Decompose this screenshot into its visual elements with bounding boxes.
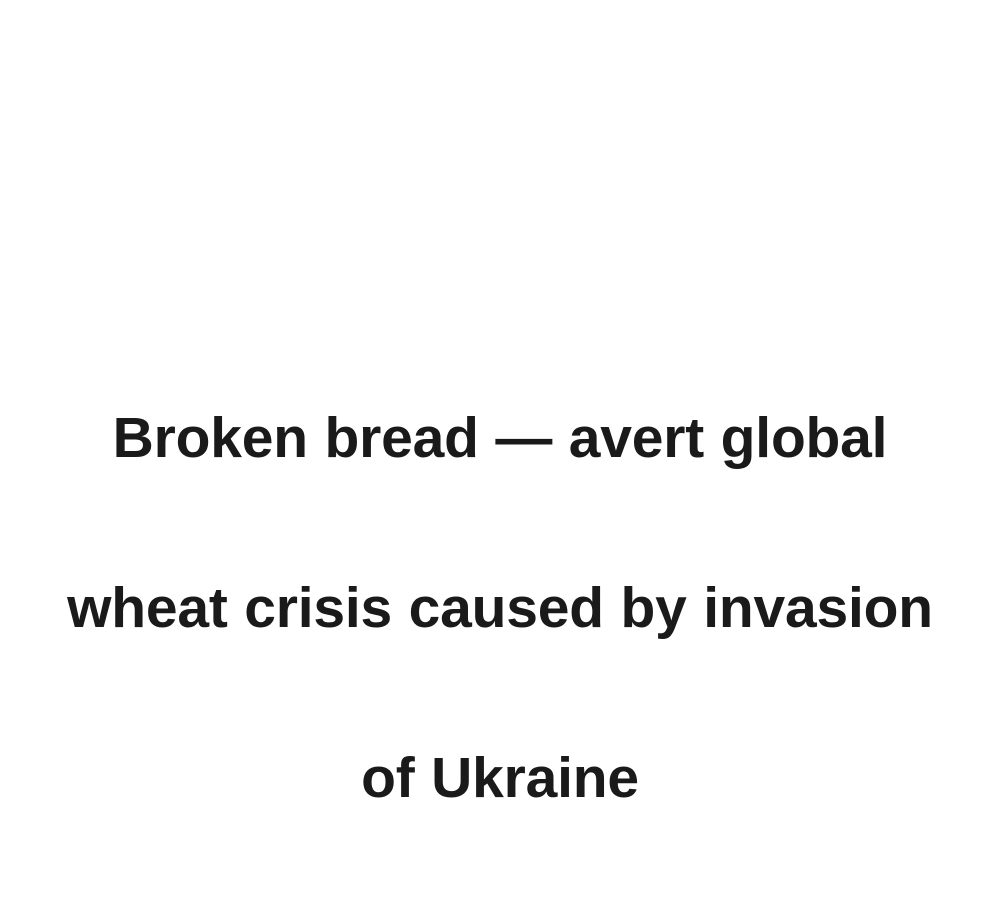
- page-canvas: Broken bread — avert global wheat crisis…: [0, 0, 1000, 857]
- headline-line-2: wheat crisis caused by invasion: [28, 566, 972, 651]
- headline-line-1: Broken bread — avert global: [28, 396, 972, 481]
- headline-line-3: of Ukraine: [28, 736, 972, 821]
- headline-block: Broken bread — avert global wheat crisis…: [0, 311, 1000, 906]
- page-title: Broken bread — avert global wheat crisis…: [28, 311, 972, 906]
